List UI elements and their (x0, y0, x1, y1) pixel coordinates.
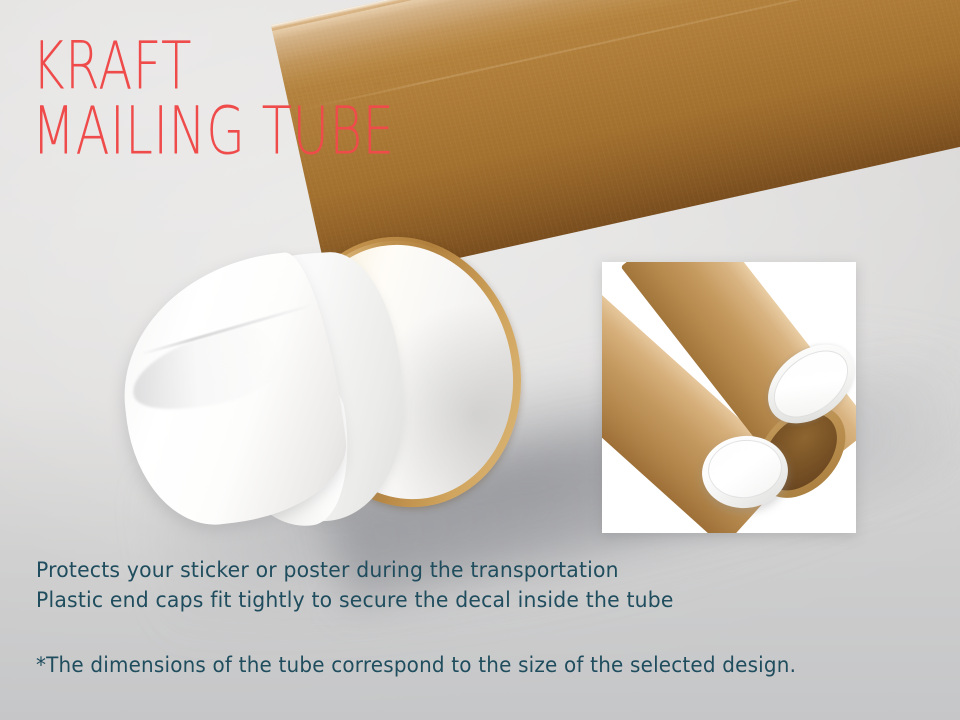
product-banner: KRAFT MAILING TUBE Protects your sticker… (0, 0, 960, 720)
copy-line-1: Protects your sticker or poster during t… (36, 556, 890, 586)
rolled-poster (124, 250, 424, 530)
inset-product-photo (602, 262, 856, 533)
body-copy: Protects your sticker or poster during t… (36, 556, 916, 616)
headline-line-2: MAILING TUBE (32, 99, 479, 164)
headline-line-1: KRAFT (32, 34, 479, 99)
footnote: *The dimensions of the tube correspond t… (36, 653, 891, 677)
headline: KRAFT MAILING TUBE (32, 34, 552, 164)
copy-line-2: Plastic end caps fit tightly to secure t… (36, 586, 890, 616)
inset-photo-canvas (602, 262, 856, 533)
